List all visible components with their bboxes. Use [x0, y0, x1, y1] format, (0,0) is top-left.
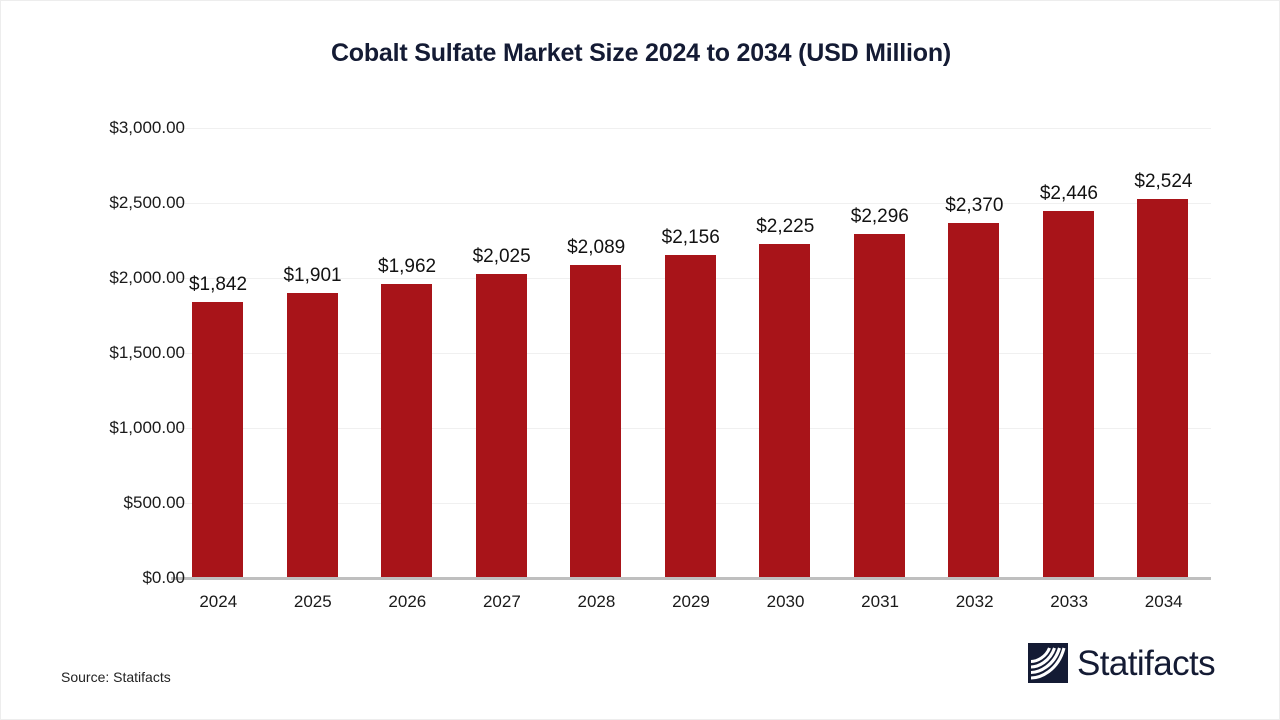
- plot-area: $1,8422024$1,9012025$1,9622026$2,0252027…: [171, 128, 1211, 578]
- bar[interactable]: [854, 234, 905, 578]
- bar[interactable]: [570, 265, 621, 578]
- x-axis-tick-label: 2025: [266, 592, 361, 612]
- x-axis-tick-label: 2028: [549, 592, 644, 612]
- y-axis-tick-label: $500.00: [25, 493, 185, 513]
- bar-group[interactable]: $1,9622026: [360, 128, 455, 578]
- x-axis-tick-label: 2030: [738, 592, 833, 612]
- x-axis-line: [171, 577, 1211, 580]
- bar[interactable]: [1043, 211, 1094, 578]
- bar[interactable]: [1137, 199, 1188, 578]
- y-axis-tick-label: $1,500.00: [25, 343, 185, 363]
- x-axis-tick-label: 2027: [455, 592, 550, 612]
- chart-title: Cobalt Sulfate Market Size 2024 to 2034 …: [1, 39, 1280, 68]
- y-axis-tick-label: $3,000.00: [25, 118, 185, 138]
- bar-group[interactable]: $2,0252027: [455, 128, 550, 578]
- x-axis-tick-label: 2029: [644, 592, 739, 612]
- x-axis-tick-label: 2024: [171, 592, 266, 612]
- bar-group[interactable]: $2,2962031: [833, 128, 928, 578]
- x-axis-tick-label: 2034: [1116, 592, 1211, 612]
- bar[interactable]: [287, 293, 338, 578]
- y-axis-tick-label: $0.00: [25, 568, 185, 588]
- x-axis-tick-label: 2032: [927, 592, 1022, 612]
- bar[interactable]: [476, 274, 527, 578]
- bar-group[interactable]: $2,0892028: [549, 128, 644, 578]
- bar-group[interactable]: $1,8422024: [171, 128, 266, 578]
- brand-wordmark: Statifacts: [1077, 646, 1215, 681]
- bar[interactable]: [381, 284, 432, 578]
- bar-group[interactable]: $2,5242034: [1116, 128, 1211, 578]
- bar-value-label: $2,524: [1106, 171, 1220, 193]
- bar[interactable]: [948, 223, 999, 579]
- bar-group[interactable]: $2,2252030: [738, 128, 833, 578]
- bar-group[interactable]: $2,3702032: [927, 128, 1022, 578]
- bar-group[interactable]: $2,1562029: [644, 128, 739, 578]
- x-axis-tick-label: 2026: [360, 592, 455, 612]
- y-axis-tick-label: $1,000.00: [25, 418, 185, 438]
- x-axis-tick-label: 2031: [833, 592, 928, 612]
- x-axis-tick-label: 2033: [1022, 592, 1117, 612]
- bar[interactable]: [759, 244, 810, 578]
- brand-logo: Statifacts: [1028, 643, 1215, 683]
- source-note: Source: Statifacts: [61, 669, 171, 685]
- y-axis-tick-label: $2,500.00: [25, 193, 185, 213]
- y-axis-tick-label: $2,000.00: [25, 268, 185, 288]
- bar[interactable]: [665, 255, 716, 578]
- bar-group[interactable]: $2,4462033: [1022, 128, 1117, 578]
- bar[interactable]: [192, 302, 243, 578]
- statifacts-swoosh-icon: [1028, 643, 1068, 683]
- chart-card: Cobalt Sulfate Market Size 2024 to 2034 …: [0, 0, 1280, 720]
- bar-group[interactable]: $1,9012025: [266, 128, 361, 578]
